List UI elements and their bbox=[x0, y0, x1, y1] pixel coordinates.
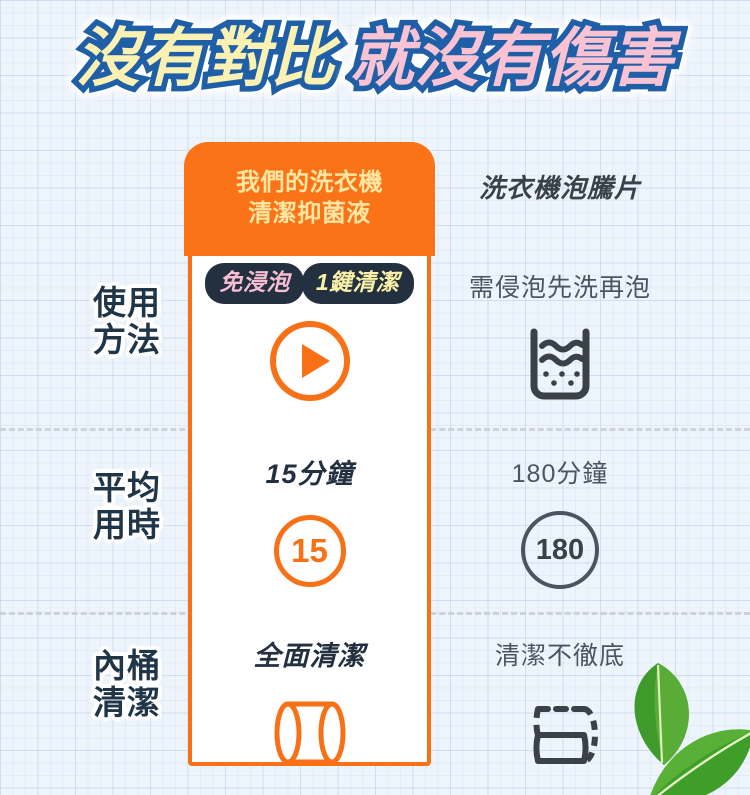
ours-time-value: 15 bbox=[274, 515, 346, 587]
row-label-usage-line2: 方法 bbox=[62, 322, 192, 359]
row-label-average-time-line2: 用時 bbox=[62, 507, 192, 544]
drum-full-icon bbox=[192, 687, 427, 779]
rival-usage-text: 需侵泡先洗再泡 bbox=[440, 268, 680, 304]
row-label-drum-cleaning-line2: 清潔 bbox=[62, 685, 192, 722]
infographic-canvas: 沒有對比就沒有傷害 我們的洗衣機 清潔抑菌液 洗衣機泡騰片 使用 方法 免浸泡 … bbox=[0, 0, 750, 795]
row-1-rival-cell: 需侵泡先洗再泡 bbox=[440, 268, 680, 410]
our-product-header-line2: 清潔抑菌液 bbox=[248, 199, 371, 230]
ours-time-text: 15分鐘 bbox=[192, 452, 427, 491]
row-label-usage: 使用 方法 bbox=[62, 285, 192, 359]
rival-time-value: 180 bbox=[521, 511, 599, 589]
row-label-average-time-line1: 平均 bbox=[62, 470, 192, 507]
our-product-header-line1: 我們的洗衣機 bbox=[236, 168, 383, 199]
our-product-header: 我們的洗衣機 清潔抑菌液 bbox=[184, 142, 435, 256]
play-circle-icon bbox=[192, 315, 427, 407]
title-part-2: 就沒有傷害 bbox=[350, 26, 675, 90]
soaking-basin-icon bbox=[440, 318, 680, 410]
rival-time-circle-icon: 180 bbox=[440, 504, 680, 596]
rival-product-header: 洗衣機泡騰片 bbox=[440, 168, 680, 205]
usage-badges: 免浸泡 1鍵清潔 bbox=[192, 266, 427, 301]
row-2-ours-cell: 15分鐘 15 bbox=[192, 452, 427, 597]
row-label-drum-cleaning-line1: 內桶 bbox=[62, 648, 192, 685]
leaf-decoration-front bbox=[638, 709, 750, 795]
ours-time-circle-icon: 15 bbox=[192, 505, 427, 597]
row-2-rival-cell: 180分鐘 180 bbox=[440, 454, 680, 596]
page-title: 沒有對比就沒有傷害 bbox=[0, 26, 750, 90]
row-label-drum-cleaning: 內桶 清潔 bbox=[62, 648, 192, 722]
row-label-usage-line1: 使用 bbox=[62, 285, 192, 322]
row-label-average-time: 平均 用時 bbox=[62, 470, 192, 544]
row-3-ours-cell: 全面清潔 bbox=[192, 634, 427, 779]
title-part-1: 沒有對比 bbox=[76, 26, 336, 90]
ours-drum-text: 全面清潔 bbox=[192, 634, 427, 673]
badge-one-key-clean: 1鍵清潔 bbox=[305, 266, 411, 301]
rival-time-text: 180分鐘 bbox=[440, 454, 680, 490]
badge-no-soak: 免浸泡 bbox=[208, 266, 301, 301]
row-1-ours-cell: 免浸泡 1鍵清潔 bbox=[192, 266, 427, 407]
